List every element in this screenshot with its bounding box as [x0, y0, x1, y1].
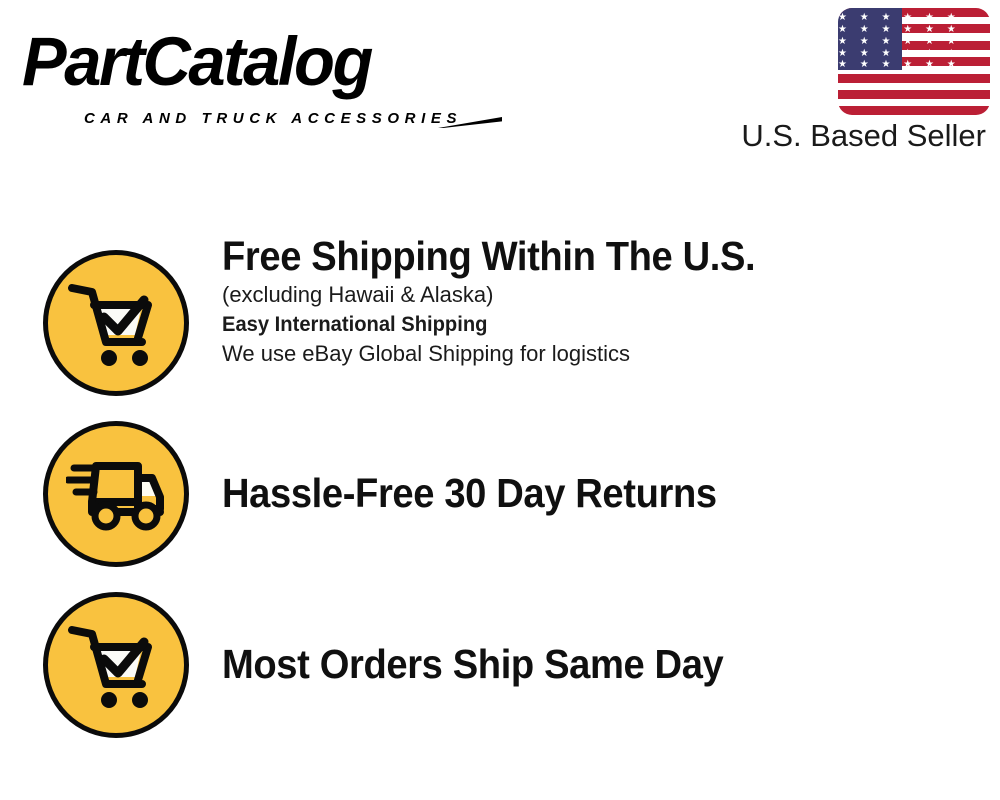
feature-subline-bold: Easy International Shipping: [222, 310, 950, 339]
flag-stripe: [838, 90, 990, 99]
feature-row: Free Shipping Within The U.S. (excluding…: [0, 250, 1000, 400]
shopping-cart-check-icon: [43, 250, 189, 396]
feature-subline: (excluding Hawaii & Alaska): [222, 280, 980, 310]
feature-row: Most Orders Ship Same Day: [0, 592, 1000, 742]
flag-star-row: ★ ★ ★ ★ ★ ★: [838, 60, 902, 70]
flag-stripe: [838, 74, 990, 83]
shopping-cart-check-icon: [43, 592, 189, 738]
flag-star-row: ★ ★ ★ ★ ★ ★: [838, 25, 902, 35]
feature-text-block: Hassle-Free 30 Day Returns: [222, 469, 980, 517]
feature-text-block: Most Orders Ship Same Day: [222, 640, 980, 688]
feature-row: Hassle-Free 30 Day Returns: [0, 421, 1000, 571]
us-flag-graphic: ★ ★ ★ ★ ★ ★ ★ ★ ★ ★ ★ ★ ★ ★ ★ ★ ★ ★ ★ ★ …: [838, 8, 990, 115]
brand-tagline: CAR AND TRUCK ACCESSORIES: [84, 110, 462, 127]
flag-stripe: [838, 106, 990, 115]
feature-headline: Most Orders Ship Same Day: [222, 640, 927, 688]
brand-wordmark: PartCatalog: [22, 22, 371, 102]
feature-headline: Hassle-Free 30 Day Returns: [222, 469, 927, 517]
partcatalog-logo: PartCatalog CAR AND TRUCK ACCESSORIES: [22, 22, 492, 118]
flag-star-row: ★ ★ ★ ★ ★ ★: [838, 13, 902, 23]
delivery-truck-icon: [43, 421, 189, 567]
us-based-seller-label: U.S. Based Seller: [600, 118, 986, 154]
feature-text-block: Free Shipping Within The U.S. (excluding…: [222, 232, 980, 369]
flag-canton: ★ ★ ★ ★ ★ ★ ★ ★ ★ ★ ★ ★ ★ ★ ★ ★ ★ ★ ★ ★ …: [838, 8, 902, 70]
feature-subline: We use eBay Global Shipping for logistic…: [222, 339, 980, 369]
flag-star-row: ★ ★ ★ ★ ★ ★: [838, 49, 902, 59]
us-flag-icon: ★ ★ ★ ★ ★ ★ ★ ★ ★ ★ ★ ★ ★ ★ ★ ★ ★ ★ ★ ★ …: [838, 8, 990, 115]
flag-star-row: ★ ★ ★ ★ ★ ★: [838, 37, 902, 47]
feature-headline: Free Shipping Within The U.S.: [222, 232, 927, 280]
promo-banner: PartCatalog CAR AND TRUCK ACCESSORIES ★ …: [0, 0, 1000, 800]
